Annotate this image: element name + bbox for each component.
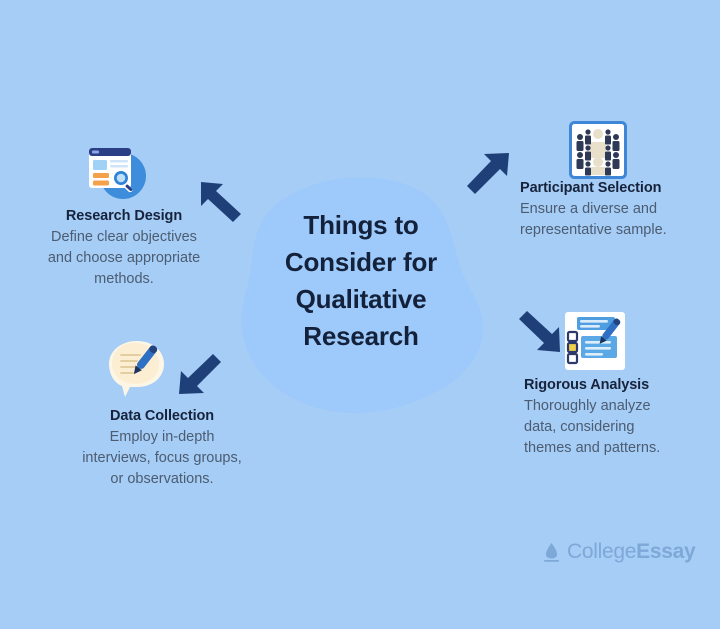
desc-line: interviews, focus groups, bbox=[50, 448, 274, 469]
desc-line: Thoroughly analyze bbox=[524, 396, 720, 417]
desc-line: representative sample. bbox=[520, 220, 720, 241]
desc-line: themes and patterns. bbox=[524, 438, 720, 459]
node-research-design[interactable]: Research Design Define clear objectives … bbox=[12, 208, 236, 290]
desc-line: and choose appropriate bbox=[12, 248, 236, 269]
node-participant-selection[interactable]: Participant Selection Ensure a diverse a… bbox=[520, 180, 720, 241]
arrow-down-right-icon bbox=[515, 306, 563, 356]
infographic-canvas: Things to Consider for Qualitative Resea… bbox=[0, 0, 720, 629]
node-title-rigorous-analysis: Rigorous Analysis bbox=[524, 377, 720, 393]
brand-name-part1: College bbox=[567, 540, 636, 563]
node-title-research-design: Research Design bbox=[12, 208, 236, 224]
center-title-line-4: Research bbox=[250, 318, 472, 355]
center-title-line-1: Things to bbox=[250, 207, 472, 244]
desc-line: data, considering bbox=[524, 417, 720, 438]
desc-line: Ensure a diverse and bbox=[520, 199, 720, 220]
desc-line: Define clear objectives bbox=[12, 227, 236, 248]
center-title-line-2: Consider for bbox=[250, 244, 472, 281]
desc-line: methods. bbox=[12, 269, 236, 290]
node-data-collection[interactable]: Data Collection Employ in-depth intervie… bbox=[50, 408, 274, 490]
people-group-icon bbox=[569, 121, 627, 179]
brand-logo[interactable]: CollegeEssay bbox=[543, 540, 695, 564]
node-desc-research-design: Define clear objectives and choose appro… bbox=[12, 227, 236, 290]
node-title-data-collection: Data Collection bbox=[50, 408, 274, 424]
desc-line: Employ in-depth bbox=[50, 427, 274, 448]
desc-line: or observations. bbox=[50, 469, 274, 490]
node-title-participant-selection: Participant Selection bbox=[520, 180, 720, 196]
center-title-line-3: Qualitative bbox=[250, 281, 472, 318]
document-search-icon bbox=[83, 142, 149, 202]
speech-bubble-pen-icon bbox=[104, 338, 170, 400]
node-rigorous-analysis[interactable]: Rigorous Analysis Thoroughly analyze dat… bbox=[524, 377, 720, 459]
pen-nib-icon bbox=[543, 542, 560, 563]
checklist-pen-icon bbox=[565, 312, 625, 370]
brand-name-part2: Essay bbox=[636, 540, 695, 563]
node-desc-rigorous-analysis: Thoroughly analyze data, considering the… bbox=[524, 396, 720, 459]
center-title: Things to Consider for Qualitative Resea… bbox=[250, 207, 472, 355]
arrow-down-left-icon bbox=[176, 350, 224, 398]
arrow-up-right-icon bbox=[463, 150, 513, 198]
brand-name: CollegeEssay bbox=[567, 540, 695, 564]
node-desc-participant-selection: Ensure a diverse and representative samp… bbox=[520, 199, 720, 241]
node-desc-data-collection: Employ in-depth interviews, focus groups… bbox=[50, 427, 274, 490]
